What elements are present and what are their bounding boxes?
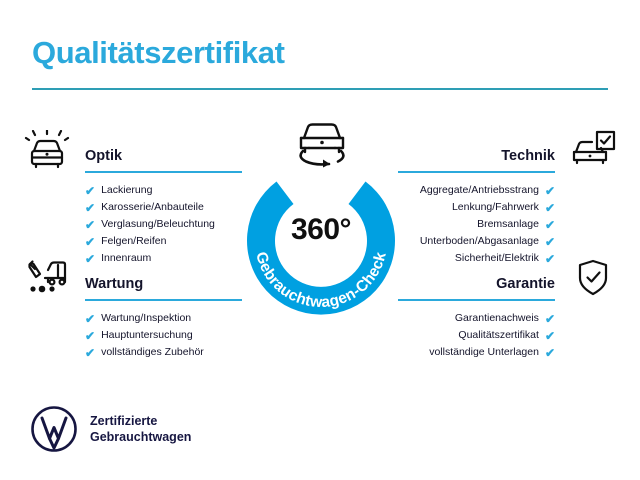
car-checkbox-icon [570, 130, 616, 170]
list-item: ✔ Wartung/Inspektion [22, 310, 262, 327]
list-item: ✔ Unterboden/Abgasanlage [378, 233, 618, 250]
list-item: ✔ vollständige Unterlagen [378, 344, 618, 361]
section-technik-title: Technik [501, 148, 555, 164]
section-optik-list: ✔ Lackierung ✔ Karosserie/Anbauteile ✔ V… [22, 182, 262, 267]
section-technik-header: Technik [378, 128, 618, 174]
list-item: ✔ Lenkung/Fahrwerk [378, 199, 618, 216]
check-icon: ✔ [545, 347, 555, 359]
quality-certificate-page: Qualitätszertifikat Optik ✔ Lackierung [0, 0, 640, 480]
list-item-label: Qualitätszertifikat [458, 327, 539, 344]
section-wartung-title: Wartung [85, 276, 143, 292]
footer-line-2: Gebrauchtwagen [90, 430, 191, 444]
footer-branding: Zertifizierte Gebrauchtwagen [30, 405, 191, 453]
section-technik-list: ✔ Aggregate/Antriebsstrang ✔ Lenkung/Fah… [378, 182, 618, 267]
check-icon: ✔ [85, 330, 95, 342]
check-icon: ✔ [85, 185, 95, 197]
section-wartung-list: ✔ Wartung/Inspektion ✔ Hauptuntersuchung… [22, 310, 262, 361]
section-wartung: Wartung ✔ Wartung/Inspektion ✔ Hauptunte… [22, 256, 262, 361]
list-item: ✔ Hauptuntersuchung [22, 327, 262, 344]
check-icon: ✔ [85, 202, 95, 214]
check-icon: ✔ [545, 185, 555, 197]
section-optik: Optik ✔ Lackierung ✔ Karosserie/Anbautei… [22, 128, 262, 267]
check-icon: ✔ [545, 219, 555, 231]
list-item-label: Lenkung/Fahrwerk [452, 199, 539, 216]
list-item: ✔ Qualitätszertifikat [378, 327, 618, 344]
section-technik-underline [398, 171, 555, 173]
list-item-label: vollständige Unterlagen [429, 344, 539, 361]
check-icon: ✔ [85, 347, 95, 359]
section-garantie-header: Garantie [378, 256, 618, 302]
gebrauchtwagen-check-badge: Gebrauchtwagen-Check 360° [235, 155, 407, 327]
car-rotation-icon [287, 117, 357, 169]
list-item-label: Aggregate/Antriebsstrang [420, 182, 539, 199]
title-divider [32, 88, 608, 90]
section-technik: Technik ✔ Aggregate/Antriebsstrang ✔ Len… [378, 128, 618, 267]
list-item-label: Lackierung [101, 182, 152, 199]
footer-text: Zertifizierte Gebrauchtwagen [90, 413, 191, 445]
list-item: ✔ Felgen/Reifen [22, 233, 262, 250]
list-item: ✔ Bremsanlage [378, 216, 618, 233]
check-icon: ✔ [85, 236, 95, 248]
section-wartung-header: Wartung [22, 256, 262, 302]
list-item: ✔ Garantienachweis [378, 310, 618, 327]
list-item-label: Bremsanlage [477, 216, 539, 233]
check-icon: ✔ [545, 330, 555, 342]
section-optik-underline [85, 171, 242, 173]
page-title: Qualitätszertifikat [32, 35, 285, 71]
list-item: ✔ Verglasung/Beleuchtung [22, 216, 262, 233]
list-item: ✔ Lackierung [22, 182, 262, 199]
check-icon: ✔ [545, 236, 555, 248]
list-item: ✔ vollständiges Zubehör [22, 344, 262, 361]
list-item-label: Garantienachweis [455, 310, 539, 327]
section-optik-header: Optik [22, 128, 262, 174]
list-item-label: Karosserie/Anbauteile [101, 199, 204, 216]
list-item-label: Unterboden/Abgasanlage [420, 233, 539, 250]
badge-center-label: 360° [235, 213, 407, 247]
section-optik-title: Optik [85, 148, 122, 164]
car-shine-icon [24, 130, 70, 170]
list-item-label: Hauptuntersuchung [101, 327, 193, 344]
list-item: ✔ Aggregate/Antriebsstrang [378, 182, 618, 199]
list-item-label: Wartung/Inspektion [101, 310, 191, 327]
wrench-car-icon [24, 258, 70, 298]
list-item-label: vollständiges Zubehör [101, 344, 204, 361]
section-garantie-underline [398, 299, 555, 301]
check-icon: ✔ [545, 313, 555, 325]
list-item-label: Felgen/Reifen [101, 233, 166, 250]
section-garantie-title: Garantie [496, 276, 555, 292]
list-item-label: Verglasung/Beleuchtung [101, 216, 215, 233]
check-icon: ✔ [545, 202, 555, 214]
vw-logo [30, 405, 78, 453]
check-icon: ✔ [85, 313, 95, 325]
check-icon: ✔ [85, 219, 95, 231]
shield-check-icon [570, 258, 616, 298]
section-garantie: Garantie ✔ Garantienachweis ✔ Qualitätsz… [378, 256, 618, 361]
section-garantie-list: ✔ Garantienachweis ✔ Qualitätszertifikat… [378, 310, 618, 361]
list-item: ✔ Karosserie/Anbauteile [22, 199, 262, 216]
footer-line-1: Zertifizierte [90, 414, 157, 428]
section-wartung-underline [85, 299, 242, 301]
